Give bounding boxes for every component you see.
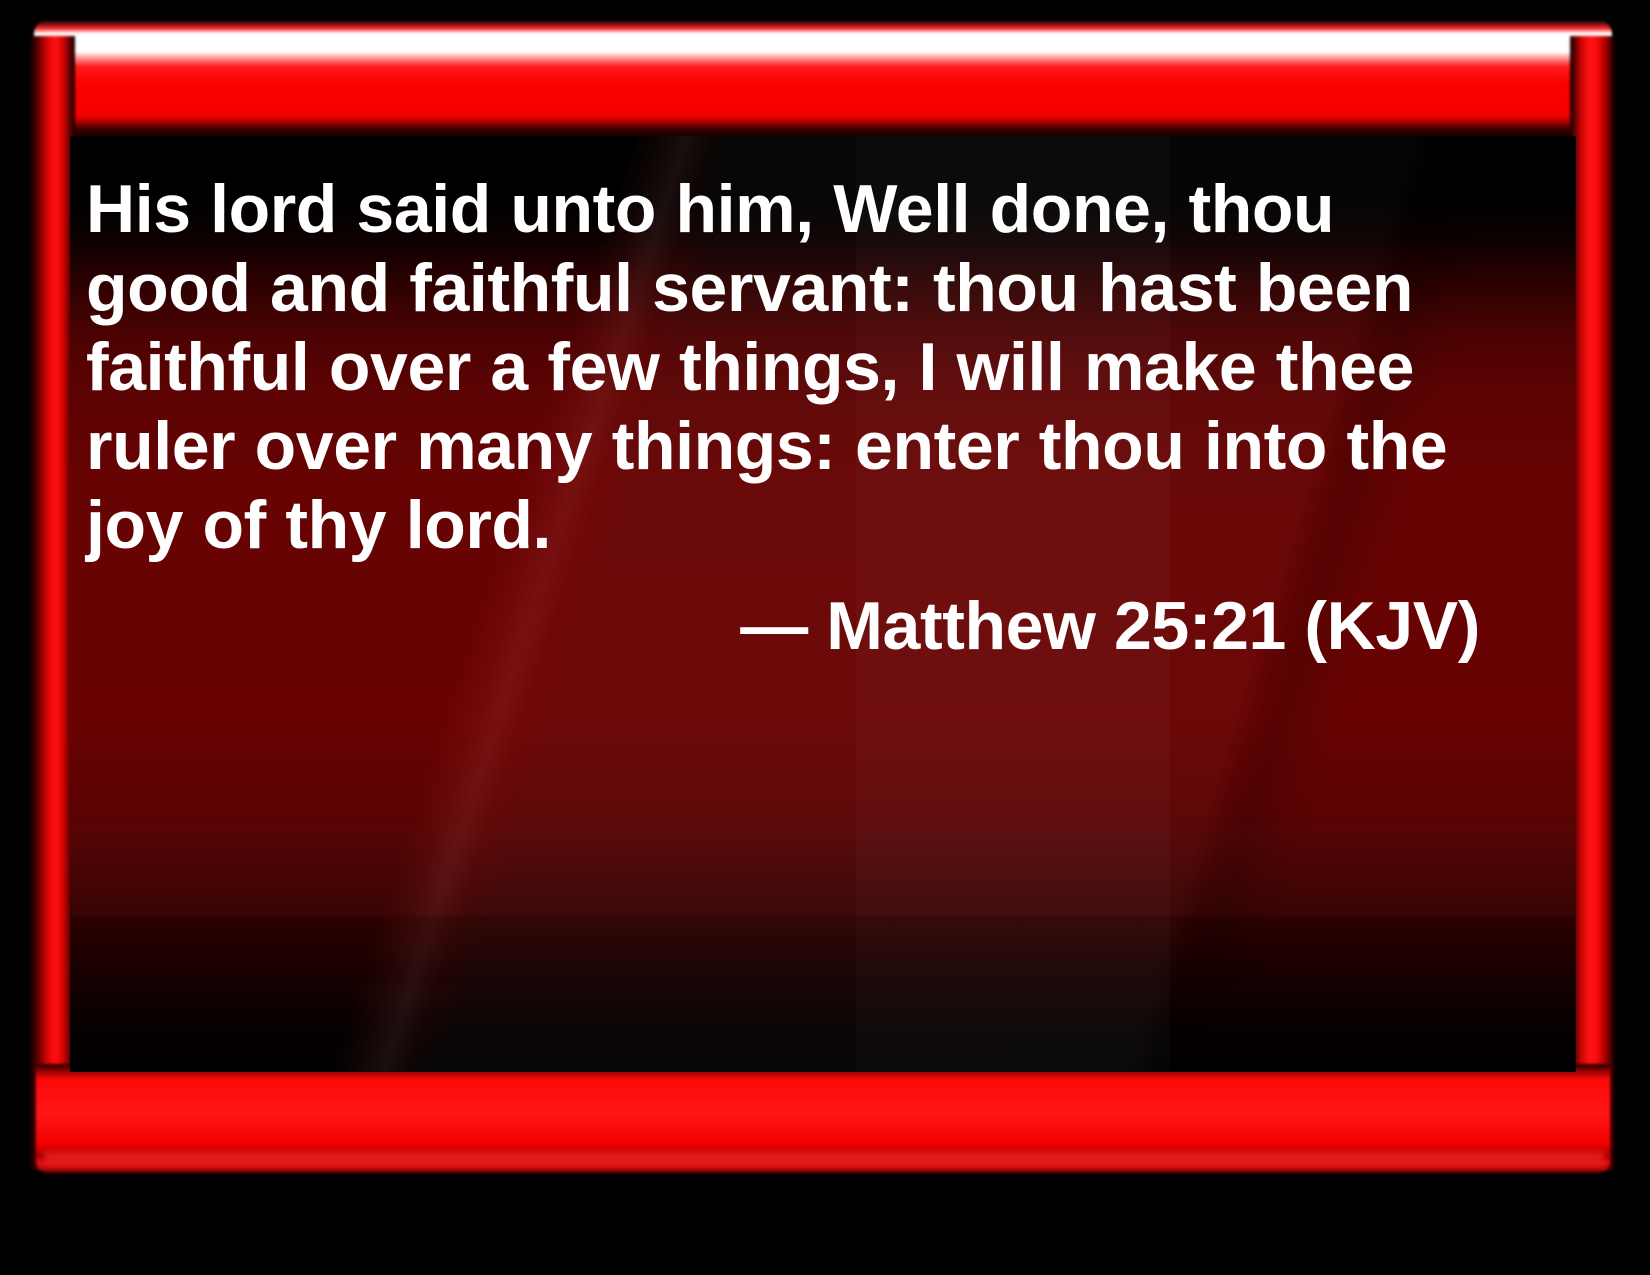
frame-bottom-gloss [44, 1152, 1604, 1172]
frame-right-bar-icon [1570, 36, 1616, 1170]
slide-stage: His lord said unto him, Well done, thou … [0, 0, 1650, 1275]
panel-tone-shelf-lower [70, 916, 1576, 986]
verse-block: His lord said unto him, Well done, thou … [86, 170, 1486, 666]
frame-top-band-icon [34, 20, 1612, 142]
frame-left-bar-icon [29, 36, 75, 1170]
verse-attribution: — Matthew 25:21 (KJV) [86, 565, 1486, 666]
verse-body-text: His lord said unto him, Well done, thou … [86, 170, 1486, 565]
panel-tone-shelf-upper [70, 826, 1576, 916]
